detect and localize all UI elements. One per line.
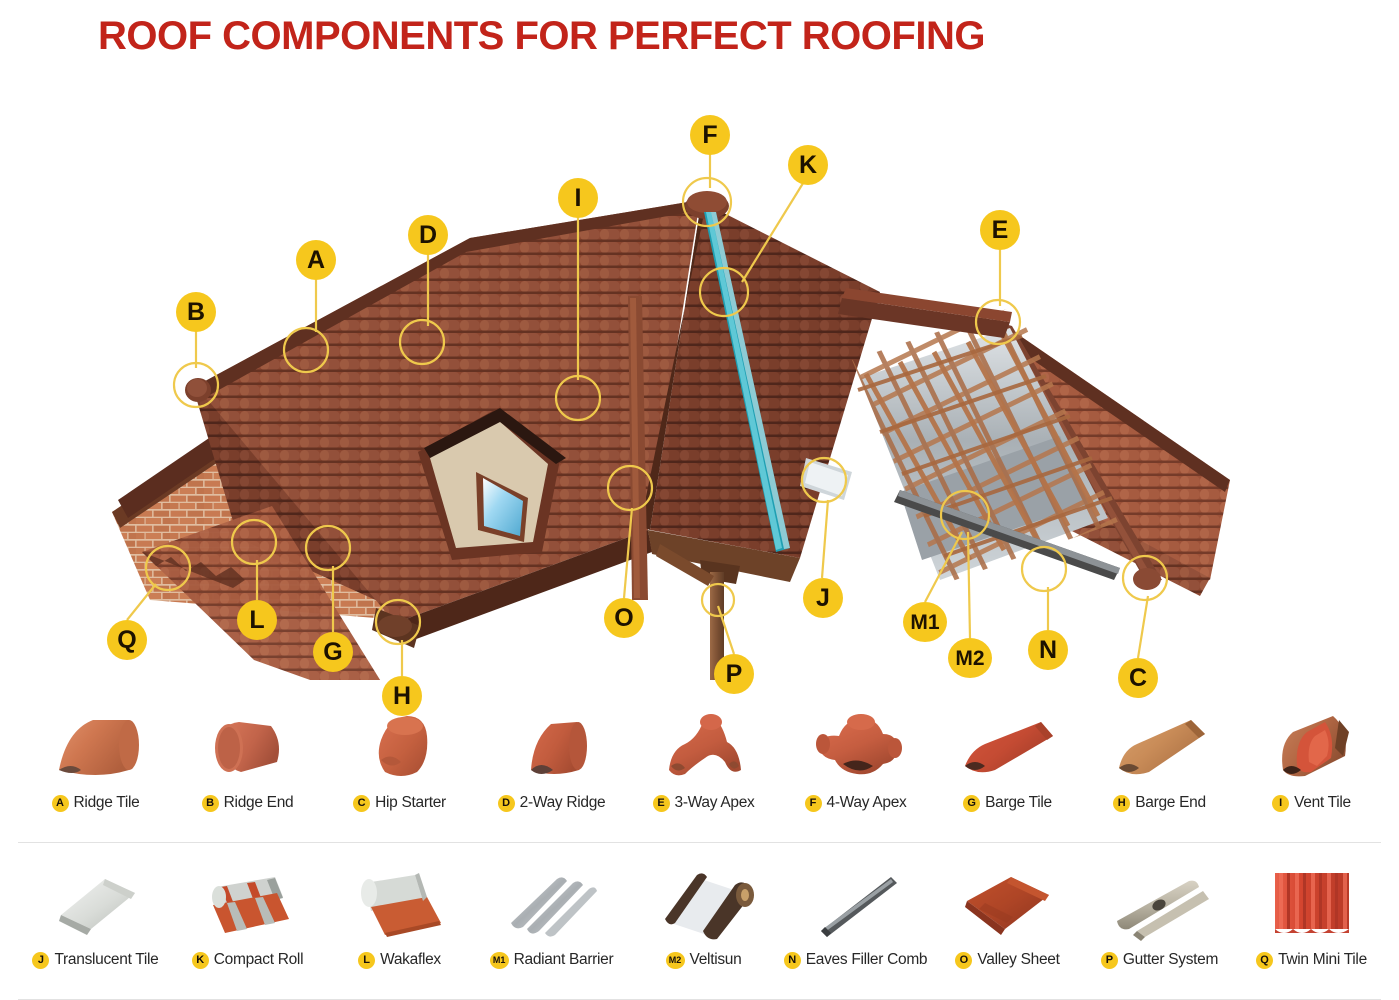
callout-label: P (726, 662, 743, 687)
callout-label: J (816, 586, 830, 611)
legend-text-B: Ridge End (224, 794, 294, 812)
hip-starter-cap (1133, 568, 1161, 590)
legend-item-barge-tile[interactable]: G Barge Tile (930, 686, 1085, 843)
thumb-gutter-system (1082, 847, 1237, 952)
roof-diagram: A B C D E F G H I J K L M1 M2 N O P Q (0, 60, 1399, 680)
legend-text-G: Barge Tile (985, 794, 1052, 812)
legend-text-M1: Radiant Barrier (514, 951, 614, 969)
legend-label-row: C Hip Starter (322, 794, 477, 812)
roof-components-infographic: ROOF COMPONENTS FOR PERFECT ROOFING (0, 0, 1399, 1000)
legend-item-valley-sheet[interactable]: O Valley Sheet (930, 843, 1085, 1000)
legend-label-row: A Ridge Tile (18, 794, 173, 812)
thumb-compact-roll (170, 847, 325, 952)
thumb-two-way-ridge (474, 690, 629, 795)
legend-badge-F: F (805, 795, 822, 812)
legend-text-D: 2-Way Ridge (520, 794, 606, 812)
legend-label-row: M1 Radiant Barrier (474, 951, 629, 969)
thumb-veltisun (626, 847, 781, 952)
legend-label-row: G Barge Tile (930, 794, 1085, 812)
legend-badge-D: D (498, 795, 515, 812)
callout-label: K (799, 153, 817, 178)
callout-label: G (323, 640, 342, 665)
legend-label-row: M2 Veltisun (626, 951, 781, 969)
legend-item-2-way-ridge[interactable]: D 2-Way Ridge (474, 686, 629, 843)
thumb-barge-tile (930, 690, 1085, 795)
legend-text-P: Gutter System (1123, 951, 1218, 969)
legend-item-compact-roll[interactable]: K Compact Roll (170, 843, 325, 1000)
legend-label-row: I Vent Tile (1234, 794, 1389, 812)
legend-item-4-way-apex[interactable]: F 4-Way Apex (778, 686, 933, 843)
legend-label-row: E 3-Way Apex (626, 794, 781, 812)
callout-marker-L[interactable]: L (237, 600, 277, 640)
legend-label-row: L Wakaflex (322, 951, 477, 969)
component-legend: A Ridge Tile B Ridge End C (0, 686, 1399, 1000)
legend-text-O: Valley Sheet (977, 951, 1059, 969)
callout-marker-N[interactable]: N (1028, 630, 1068, 670)
callout-marker-I[interactable]: I (558, 178, 598, 218)
legend-badge-Q: Q (1256, 952, 1273, 969)
thumb-four-way-apex (778, 690, 933, 795)
legend-text-K: Compact Roll (214, 951, 303, 969)
thumb-translucent-tile (18, 847, 173, 952)
legend-text-H: Barge End (1135, 794, 1206, 812)
legend-badge-E: E (653, 795, 670, 812)
legend-item-ridge-tile[interactable]: A Ridge Tile (18, 686, 173, 843)
legend-badge-C: C (353, 795, 370, 812)
legend-text-C: Hip Starter (375, 794, 446, 812)
legend-item-radiant-barrier[interactable]: M1 Radiant Barrier (474, 843, 629, 1000)
callout-label: O (614, 606, 633, 631)
callout-marker-O[interactable]: O (604, 598, 644, 638)
legend-text-L: Wakaflex (380, 951, 441, 969)
legend-item-veltisun[interactable]: M2 Veltisun (626, 843, 781, 1000)
legend-badge-P: P (1101, 952, 1118, 969)
callout-marker-E[interactable]: E (980, 210, 1020, 250)
callout-label: F (702, 123, 717, 148)
legend-label-row: P Gutter System (1082, 951, 1237, 969)
legend-badge-O: O (955, 952, 972, 969)
callout-label: A (307, 248, 325, 273)
callout-marker-D[interactable]: D (408, 215, 448, 255)
callout-marker-Q[interactable]: Q (107, 620, 147, 660)
legend-badge-A: A (52, 795, 69, 812)
legend-badge-I: I (1272, 795, 1289, 812)
thumb-ridge-end (170, 690, 325, 795)
thumb-eaves-filler-comb (778, 847, 933, 952)
legend-label-row: F 4-Way Apex (778, 794, 933, 812)
callout-label: L (249, 608, 264, 633)
thumb-radiant-barrier (474, 847, 629, 952)
legend-item-ridge-end[interactable]: B Ridge End (170, 686, 325, 843)
legend-item-eaves-filler-comb[interactable]: N Eaves Filler Comb (778, 843, 933, 1000)
callout-label: B (187, 300, 205, 325)
legend-label-row: B Ridge End (170, 794, 325, 812)
legend-row-2: J Translucent Tile K Compact Roll L (0, 843, 1399, 1000)
callout-marker-M2[interactable]: M2 (948, 638, 992, 678)
callout-marker-A[interactable]: A (296, 240, 336, 280)
legend-badge-G: G (963, 795, 980, 812)
callout-label: Q (117, 628, 136, 653)
thumb-valley-sheet (930, 847, 1085, 952)
legend-text-M2: Veltisun (690, 951, 742, 969)
callout-marker-B[interactable]: B (176, 292, 216, 332)
thumb-barge-end (1082, 690, 1237, 795)
legend-text-J: Translucent Tile (54, 951, 158, 969)
roof-illustration (0, 60, 1399, 680)
legend-label-row: N Eaves Filler Comb (778, 951, 933, 969)
thumb-three-way-apex (626, 690, 781, 795)
legend-badge-L: L (358, 952, 375, 969)
thumb-vent-tile (1234, 690, 1389, 795)
legend-item-3-way-apex[interactable]: E 3-Way Apex (626, 686, 781, 843)
thumb-ridge-tile (18, 690, 173, 795)
callout-label: I (575, 186, 582, 211)
legend-label-row: Q Twin Mini Tile (1234, 951, 1389, 969)
legend-badge-H: H (1113, 795, 1130, 812)
legend-item-translucent-tile[interactable]: J Translucent Tile (18, 843, 173, 1000)
callout-label: E (992, 218, 1009, 243)
legend-item-barge-end[interactable]: H Barge End (1082, 686, 1237, 843)
callout-label: D (419, 223, 437, 248)
callout-label: M1 (910, 612, 939, 633)
callout-marker-J[interactable]: J (803, 578, 843, 618)
legend-row-1: A Ridge Tile B Ridge End C (0, 686, 1399, 843)
legend-text-Q: Twin Mini Tile (1278, 951, 1367, 969)
legend-text-E: 3-Way Apex (675, 794, 755, 812)
legend-label-row: H Barge End (1082, 794, 1237, 812)
callout-marker-M1[interactable]: M1 (903, 602, 947, 642)
callout-label: M2 (955, 648, 984, 669)
legend-label-row: K Compact Roll (170, 951, 325, 969)
legend-text-F: 4-Way Apex (827, 794, 907, 812)
legend-item-twin-mini-tile[interactable]: Q Twin Mini Tile (1234, 843, 1389, 1000)
legend-badge-M2: M2 (666, 952, 685, 969)
callout-marker-G[interactable]: G (313, 632, 353, 672)
legend-text-I: Vent Tile (1294, 794, 1351, 812)
legend-item-gutter-system[interactable]: P Gutter System (1082, 843, 1237, 1000)
callout-label: N (1039, 638, 1057, 663)
ridge-end-cap (185, 378, 211, 402)
page-title: ROOF COMPONENTS FOR PERFECT ROOFING (98, 14, 985, 59)
legend-badge-M1: M1 (490, 952, 509, 969)
legend-item-hip-starter[interactable]: C Hip Starter (322, 686, 477, 843)
legend-badge-K: K (192, 952, 209, 969)
legend-badge-J: J (32, 952, 49, 969)
legend-label-row: O Valley Sheet (930, 951, 1085, 969)
callout-marker-K[interactable]: K (788, 145, 828, 185)
legend-text-A: Ridge Tile (74, 794, 140, 812)
legend-item-wakaflex[interactable]: L Wakaflex (322, 843, 477, 1000)
callout-marker-F[interactable]: F (690, 115, 730, 155)
legend-label-row: J Translucent Tile (18, 951, 173, 969)
legend-item-vent-tile[interactable]: I Vent Tile (1234, 686, 1389, 843)
legend-label-row: D 2-Way Ridge (474, 794, 629, 812)
thumb-wakaflex (322, 847, 477, 952)
thumb-hip-starter (322, 690, 477, 795)
legend-text-N: Eaves Filler Comb (806, 951, 928, 969)
legend-badge-B: B (202, 795, 219, 812)
legend-badge-N: N (784, 952, 801, 969)
thumb-twin-mini-tile (1234, 847, 1389, 952)
